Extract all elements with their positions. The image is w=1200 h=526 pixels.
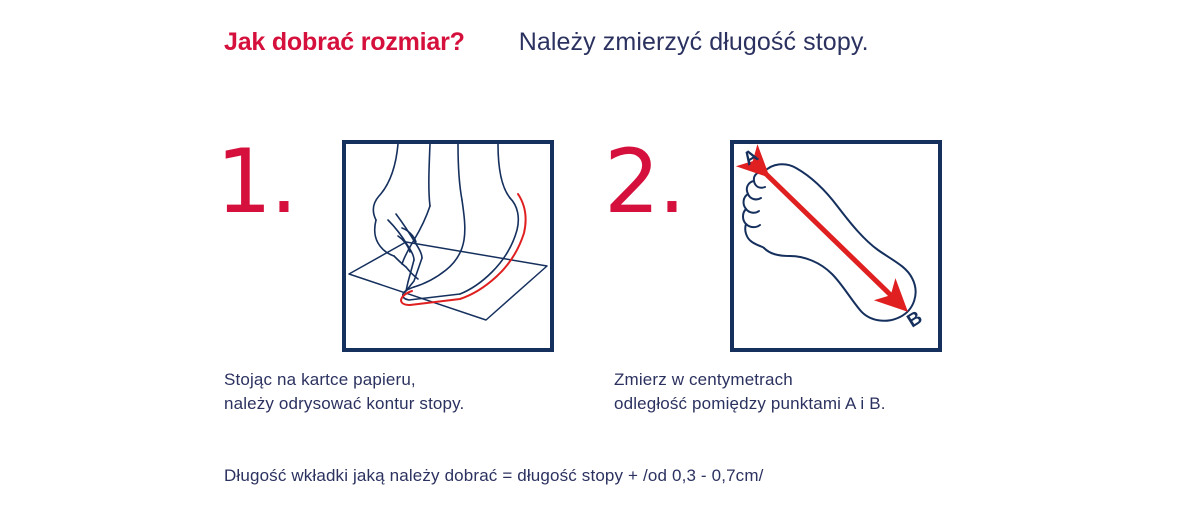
step-1-caption: Stojąc na kartce papieru, należy odrysow… (224, 368, 464, 416)
step-1: 1. (216, 140, 554, 356)
size-guide-page: Jak dobrać rozmiar? Należy zmierzyć dług… (0, 0, 1200, 526)
page-subtitle: Należy zmierzyć długość stopy. (519, 28, 869, 57)
step-2-caption: Zmierz w centymetrach odległość pomiędzy… (614, 368, 886, 416)
step-2-number: 2. (604, 140, 730, 224)
step-2-figure-box: A B (730, 140, 942, 352)
step-1-figure-box (342, 140, 554, 352)
step-2-row: 2. (604, 140, 942, 356)
foot-outline-measure-illustration: A B (734, 144, 938, 348)
point-a-label: A (740, 145, 763, 170)
step-1-row: 1. (216, 140, 554, 356)
step-1-number: 1. (216, 140, 342, 224)
step-2: 2. (604, 140, 942, 356)
tracing-foot-on-paper-illustration (346, 144, 550, 348)
page-title: Jak dobrać rozmiar? (224, 28, 465, 57)
header: Jak dobrać rozmiar? Należy zmierzyć dług… (224, 28, 869, 57)
insole-length-note: Długość wkładki jaką należy dobrać = dłu… (224, 466, 764, 486)
measure-arrow (766, 174, 904, 308)
